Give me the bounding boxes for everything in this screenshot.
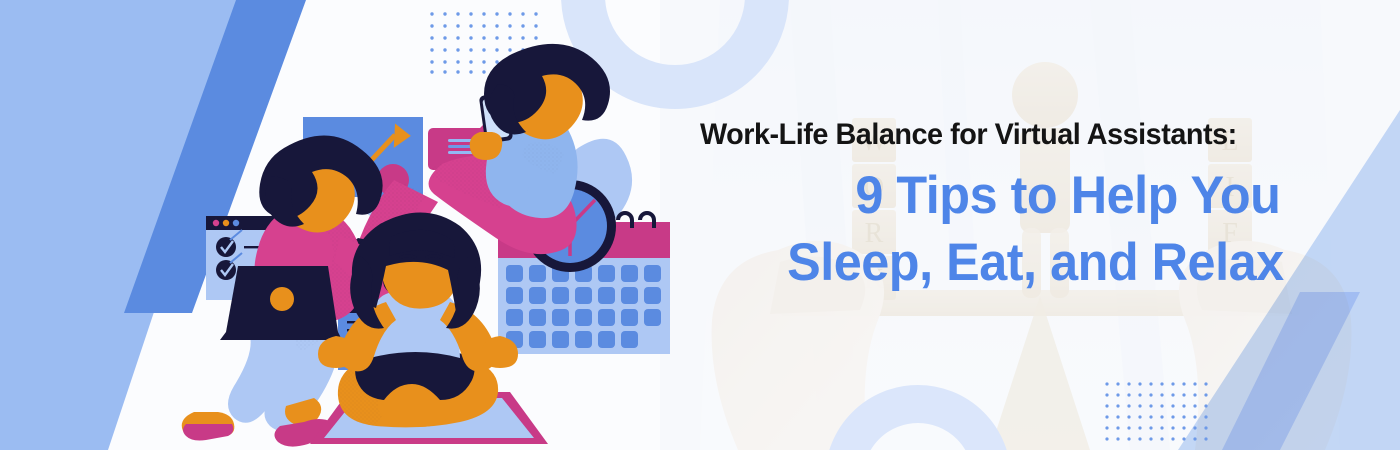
window-dot-maximize-icon — [233, 220, 239, 226]
figure2-hand — [470, 132, 503, 160]
figure1-back-shoe — [183, 424, 233, 441]
window-dot-close-icon — [213, 220, 219, 226]
check-circle-icon — [216, 237, 236, 257]
bottom-pale-blue-ring — [818, 378, 1018, 450]
work-life-balance-illustration — [180, 40, 680, 450]
laptop-base — [220, 332, 342, 340]
window-dot-minimize-icon — [223, 220, 229, 226]
laptop-logo-icon — [270, 287, 294, 311]
dot-grid-bottom-right — [1105, 382, 1211, 442]
laptop — [220, 266, 342, 340]
check-circle-icon — [216, 260, 236, 280]
chat-bubble-line — [448, 151, 474, 154]
banner: W O R K L I F E — [0, 0, 1400, 450]
